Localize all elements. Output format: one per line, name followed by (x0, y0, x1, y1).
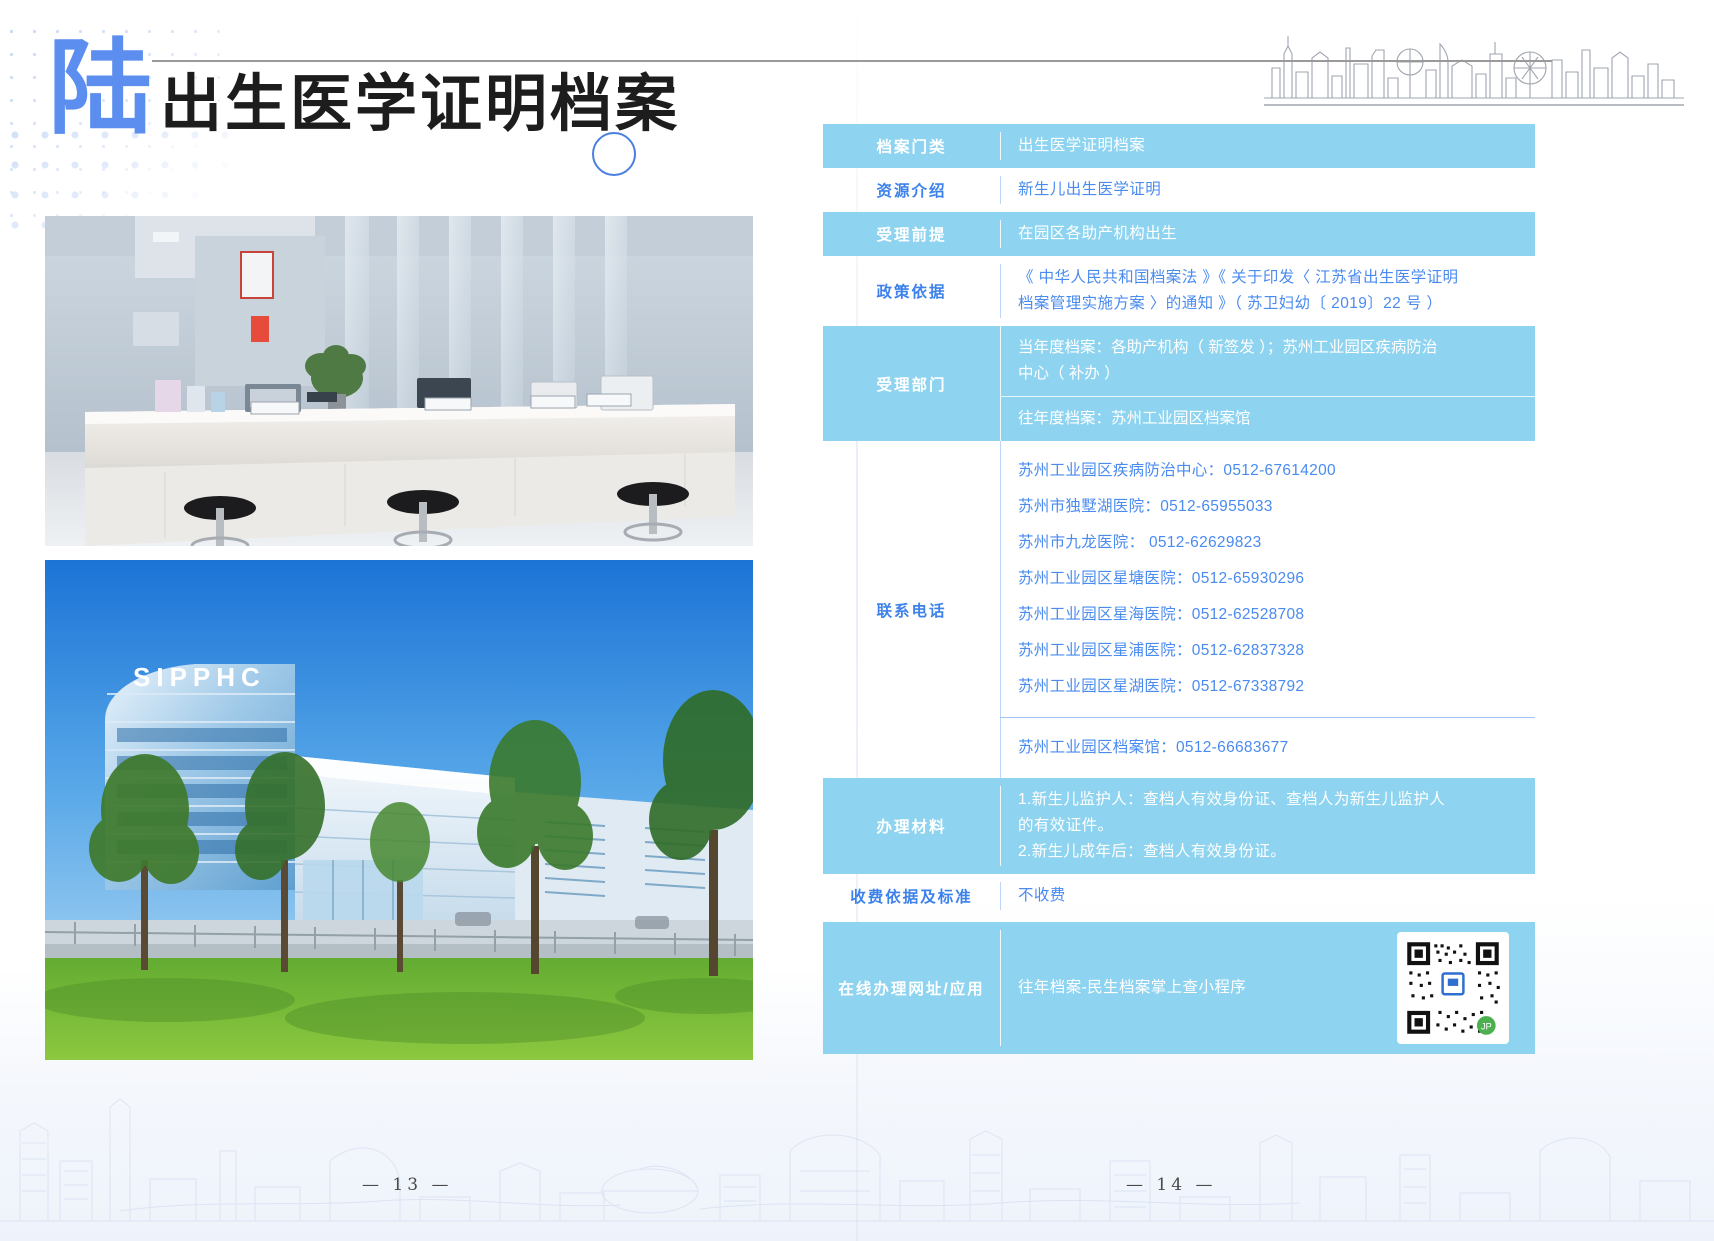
row-label: 政策依据 (823, 256, 1000, 326)
svg-text:JP: JP (1481, 1022, 1492, 1032)
table-row: 收费依据及标准 不收费 (823, 874, 1535, 918)
row-label: 收费依据及标准 (823, 874, 1000, 918)
table-row: 资源介绍 新生儿出生医学证明 (823, 168, 1535, 212)
archive-info-table: 档案门类 出生医学证明档案 资源介绍 新生儿出生医学证明 受理前提 在园区各助产… (823, 124, 1535, 1054)
title-circle-decoration (592, 132, 636, 176)
row-label: 档案门类 (823, 124, 1000, 168)
phone-line: 苏州市九龙医院： 0512-62629823 (1018, 525, 1535, 561)
table-row: 受理前提 在园区各助产机构出生 (823, 212, 1535, 256)
subrow: 往年度档案：苏州工业园区档案馆 (1000, 396, 1535, 441)
page-number-right: — 14 — (1126, 1175, 1216, 1195)
material-line: 的有效证件。 (1018, 813, 1535, 839)
chapter-number: 陆 (48, 36, 154, 140)
row-value: 新生儿出生医学证明 (1000, 168, 1535, 212)
phone-line: 苏州工业园区星塘医院：0512-65930296 (1018, 561, 1535, 597)
material-line: 2.新生儿成年后：查档人有效身份证。 (1018, 839, 1535, 865)
subrow: 当年度档案：各助产机构（ 新签发 ）；苏州工业园区疾病防治 中心（ 补办 ） (1000, 326, 1535, 396)
table-row: 受理部门 当年度档案：各助产机构（ 新签发 ）；苏州工业园区疾病防治 中心（ 补… (823, 326, 1535, 441)
row-label: 资源介绍 (823, 168, 1000, 212)
phone-line: 苏州工业园区星浦医院：0512-62837328 (1018, 633, 1535, 669)
phone-line: 苏州工业园区档案馆：0512-66683677 (1018, 730, 1535, 766)
building-sign-text: SIPPHC (133, 662, 266, 692)
row-label: 办理材料 (823, 778, 1000, 874)
phone-group: 苏州工业园区疾病防治中心：0512-67614200 苏州市独墅湖医院：0512… (1000, 441, 1535, 717)
row-value: 1.新生儿监护人：查档人有效身份证、查档人为新生儿监护人 的有效证件。 2.新生… (1000, 778, 1535, 874)
phone-line: 苏州工业园区星湖医院：0512-67338792 (1018, 669, 1535, 705)
service-counter-photo (45, 216, 753, 546)
row-label: 联系电话 (823, 441, 1000, 778)
phone-group: 苏州工业园区档案馆：0512-66683677 (1000, 717, 1535, 778)
subrow-line: 往年度档案：苏州工业园区档案馆 (1018, 406, 1535, 432)
row-value: 苏州工业园区疾病防治中心：0512-67614200 苏州市独墅湖医院：0512… (1000, 441, 1535, 778)
header-rule-right (1264, 104, 1684, 106)
row-value: 在园区各助产机构出生 (1000, 212, 1535, 256)
material-line: 1.新生儿监护人：查档人有效身份证、查档人为新生儿监护人 (1018, 787, 1535, 813)
table-row: 办理材料 1.新生儿监护人：查档人有效身份证、查档人为新生儿监护人 的有效证件。… (823, 778, 1535, 874)
table-row: 在线办理网址/应用 往年档案-民生档案掌上查小程序 (823, 922, 1535, 1054)
document-page: 陆 出生医学证明档案 (0, 0, 1714, 1241)
row-value: 当年度档案：各助产机构（ 新签发 ）；苏州工业园区疾病防治 中心（ 补办 ） 往… (1000, 326, 1535, 441)
subrow-line: 中心（ 补办 ） (1018, 361, 1535, 387)
phone-line: 苏州市独墅湖医院：0512-65955033 (1018, 489, 1535, 525)
title-underline (152, 60, 1552, 62)
row-value: 出生医学证明档案 (1000, 124, 1535, 168)
qr-code-icon[interactable]: JP (1397, 932, 1509, 1044)
page-number-left: — 13 — (362, 1175, 452, 1195)
row-label: 受理部门 (823, 326, 1000, 441)
page-title: 出生医学证明档案 (160, 68, 680, 140)
table-row: 档案门类 出生医学证明档案 (823, 124, 1535, 168)
policy-line: 档案管理实施方案 〉的通知 》（ 苏卫妇幼〔 2019〕22 号 ） (1018, 291, 1535, 317)
row-label: 在线办理网址/应用 (823, 922, 1000, 1054)
row-value: 《 中华人民共和国档案法 》《 关于印发〈 江苏省出生医学证明 档案管理实施方案… (1000, 256, 1535, 326)
table-row: 政策依据 《 中华人民共和国档案法 》《 关于印发〈 江苏省出生医学证明 档案管… (823, 256, 1535, 326)
row-value: 不收费 (1000, 874, 1535, 918)
phone-line: 苏州工业园区星海医院：0512-62528708 (1018, 597, 1535, 633)
phone-line: 苏州工业园区疾病防治中心：0512-67614200 (1018, 453, 1535, 489)
table-row: 联系电话 苏州工业园区疾病防治中心：0512-67614200 苏州市独墅湖医院… (823, 441, 1535, 778)
subrow-line: 当年度档案：各助产机构（ 新签发 ）；苏州工业园区疾病防治 (1018, 335, 1535, 361)
row-label: 受理前提 (823, 212, 1000, 256)
policy-line: 《 中华人民共和国档案法 》《 关于印发〈 江苏省出生医学证明 (1018, 265, 1535, 291)
sipphc-building-photo: SIPPHC (45, 560, 753, 1060)
skyline-line-art-icon (1264, 28, 1684, 100)
